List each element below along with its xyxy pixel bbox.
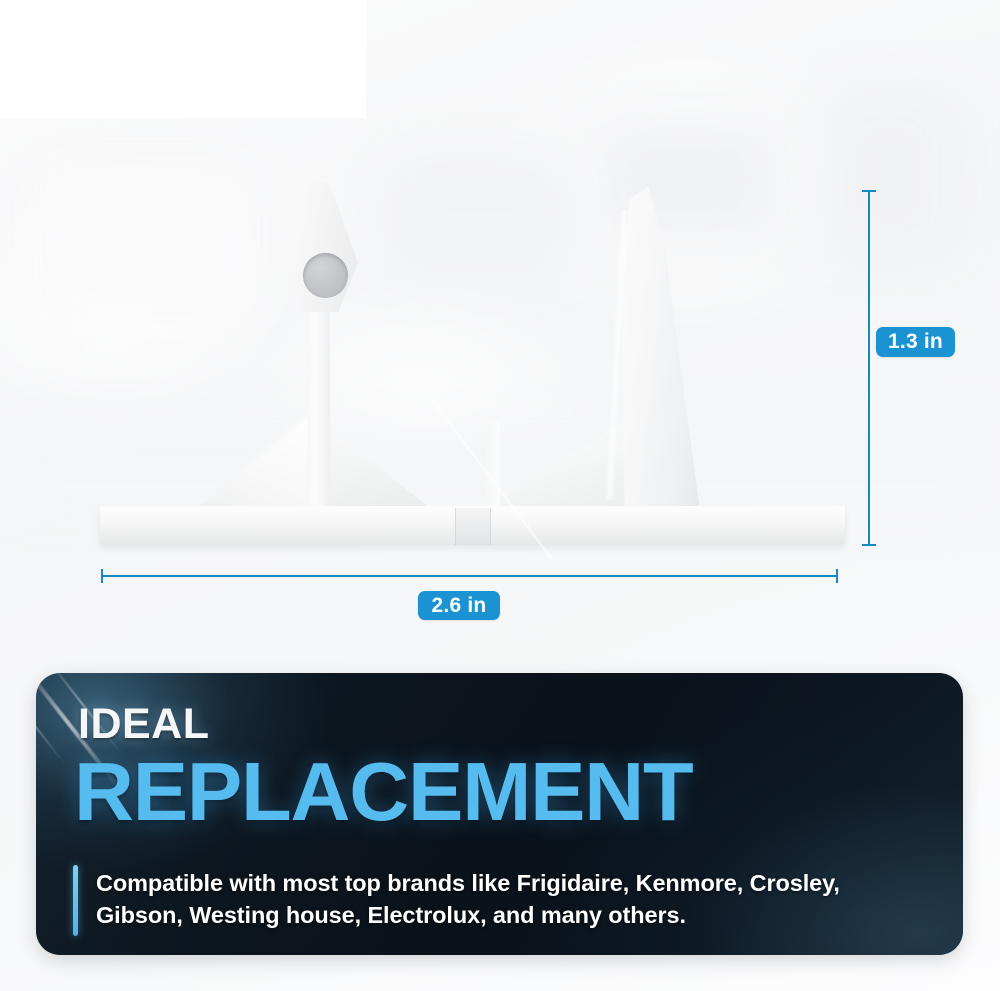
product-right-buttress	[478, 412, 642, 511]
logo-placeholder-plate	[0, 0, 366, 118]
height-dimension-line	[868, 190, 870, 545]
product-right-inner-wall	[486, 422, 500, 510]
infographic-page: 1.3 in 2.6 in IDEAL REPLACEMENT Compatib…	[0, 0, 1000, 991]
product-base-center-tab	[455, 508, 491, 545]
width-dimension-tick-left	[101, 569, 103, 583]
product-left-buttress-front	[196, 412, 324, 510]
banner-description-text: Compatible with most top brands like Fri…	[96, 867, 896, 932]
banner-accent-bar	[73, 865, 78, 936]
width-dimension-line	[101, 575, 838, 577]
height-dimension-badge: 1.3 in	[876, 327, 955, 357]
product-left-stem	[307, 290, 331, 510]
product-image	[0, 150, 1000, 570]
width-dimension-tick-right	[836, 569, 838, 583]
height-dimension-tick-top	[862, 190, 876, 192]
banner-light-streak	[36, 693, 66, 765]
product-pivot-hole	[303, 253, 348, 298]
height-dimension-tick-bottom	[862, 544, 876, 546]
width-dimension-badge: 2.6 in	[418, 591, 500, 620]
banner-eyebrow-text: IDEAL	[78, 703, 210, 746]
banner-headline-text: REPLACEMENT	[74, 750, 693, 833]
